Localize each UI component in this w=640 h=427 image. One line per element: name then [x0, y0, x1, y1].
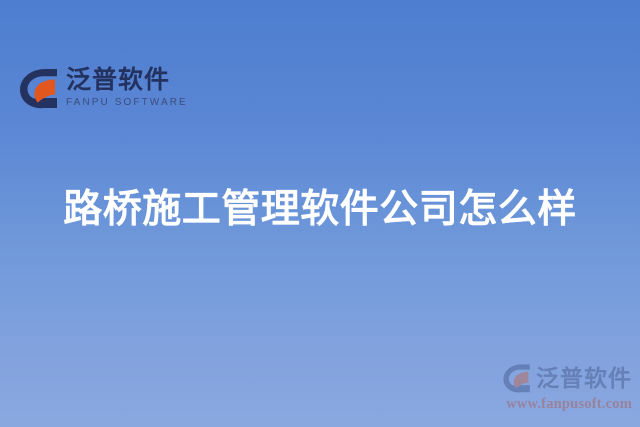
- brand-name-en: FANPU SOFTWARE: [66, 96, 188, 109]
- brand-logo: 泛普软件 FANPU SOFTWARE: [18, 66, 188, 109]
- promo-banner: 泛普软件 FANPU SOFTWARE 路桥施工管理软件公司怎么样 泛普软件 w…: [0, 0, 640, 427]
- fanpu-swoosh-icon: [18, 67, 60, 109]
- page-title: 路桥施工管理软件公司怎么样: [0, 186, 640, 234]
- watermark-brand-name: 泛普软件: [536, 367, 632, 390]
- watermark-brand-row: 泛普软件: [502, 363, 632, 393]
- fanpu-swoosh-icon: [502, 363, 532, 393]
- watermark-url: www.fanpusoft.com: [502, 396, 632, 413]
- watermark: 泛普软件 www.fanpusoft.com: [502, 363, 632, 413]
- brand-name-cn: 泛普软件: [66, 66, 188, 94]
- brand-wordmark: 泛普软件 FANPU SOFTWARE: [66, 66, 188, 109]
